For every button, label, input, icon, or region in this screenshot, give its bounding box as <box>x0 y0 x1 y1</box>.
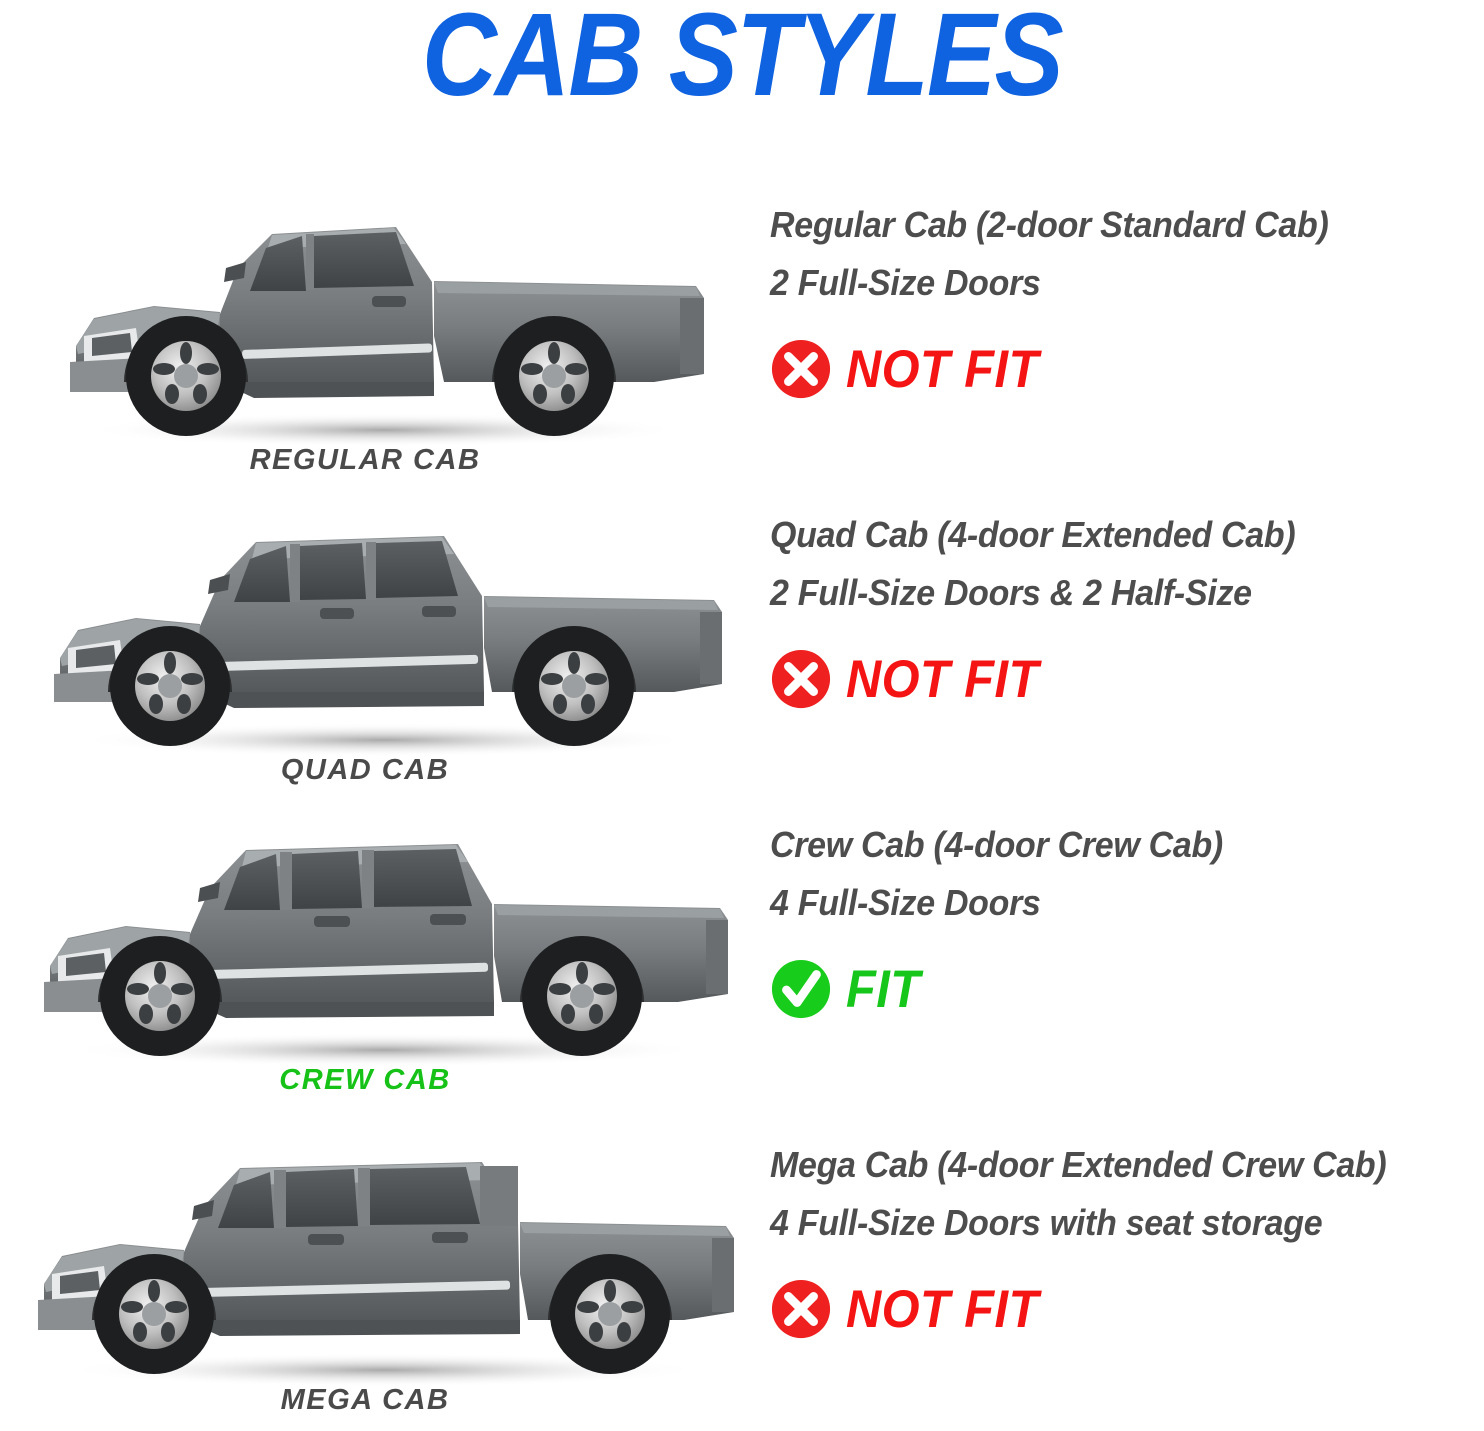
cab-row-crew: CREW CAB Crew Cab (4-door Crew Cab) 4 Fu… <box>0 806 1484 1111</box>
cab-heading-quad: Quad Cab (4-door Extended Cab) <box>770 514 1434 556</box>
cab-styles-infographic: CAB STYLES <box>0 0 1484 1429</box>
cab-doors-regular: 2 Full-Size Doors <box>770 262 1434 304</box>
verdict-crew: FIT <box>770 958 1484 1020</box>
cab-doors-crew: 4 Full-Size Doors <box>770 882 1434 924</box>
cab-row-mega: MEGA CAB Mega Cab (4-door Extended Crew … <box>0 1126 1484 1431</box>
cab-heading-regular: Regular Cab (2-door Standard Cab) <box>770 204 1434 246</box>
cab-label-mega: MEGA CAB <box>0 1384 730 1417</box>
cab-info-regular: Regular Cab (2-door Standard Cab) 2 Full… <box>770 204 1484 400</box>
page-title: CAB STYLES <box>89 0 1395 118</box>
red-x-circle-icon <box>770 338 832 400</box>
verdict-text-quad: NOT FIT <box>846 653 1039 706</box>
red-x-circle-icon <box>770 1278 832 1340</box>
truck-illustration-regular-cab <box>14 186 744 448</box>
cab-label-regular: REGULAR CAB <box>0 444 730 477</box>
truck-illustration-mega-cab <box>14 1126 744 1388</box>
verdict-regular: NOT FIT <box>770 338 1484 400</box>
cab-info-quad: Quad Cab (4-door Extended Cab) 2 Full-Si… <box>770 514 1484 710</box>
cab-label-quad: QUAD CAB <box>0 754 730 787</box>
cab-info-crew: Crew Cab (4-door Crew Cab) 4 Full-Size D… <box>770 824 1484 1020</box>
green-check-circle-icon <box>770 958 832 1020</box>
verdict-text-mega: NOT FIT <box>846 1283 1039 1336</box>
cab-row-quad: QUAD CAB Quad Cab (4-door Extended Cab) … <box>0 496 1484 801</box>
cab-heading-mega: Mega Cab (4-door Extended Crew Cab) <box>770 1144 1434 1186</box>
cab-heading-crew: Crew Cab (4-door Crew Cab) <box>770 824 1434 866</box>
verdict-mega: NOT FIT <box>770 1278 1484 1340</box>
cab-doors-quad: 2 Full-Size Doors & 2 Half-Size <box>770 572 1434 614</box>
cab-label-crew: CREW CAB <box>0 1064 730 1097</box>
cab-info-mega: Mega Cab (4-door Extended Crew Cab) 4 Fu… <box>770 1144 1484 1340</box>
truck-illustration-crew-cab <box>14 806 744 1068</box>
verdict-text-crew: FIT <box>846 963 921 1016</box>
verdict-quad: NOT FIT <box>770 648 1484 710</box>
cab-row-regular: REGULAR CAB Regular Cab (2-door Standard… <box>0 186 1484 491</box>
cab-doors-mega: 4 Full-Size Doors with seat storage <box>770 1202 1434 1244</box>
truck-illustration-quad-cab <box>14 496 744 758</box>
verdict-text-regular: NOT FIT <box>846 343 1039 396</box>
red-x-circle-icon <box>770 648 832 710</box>
